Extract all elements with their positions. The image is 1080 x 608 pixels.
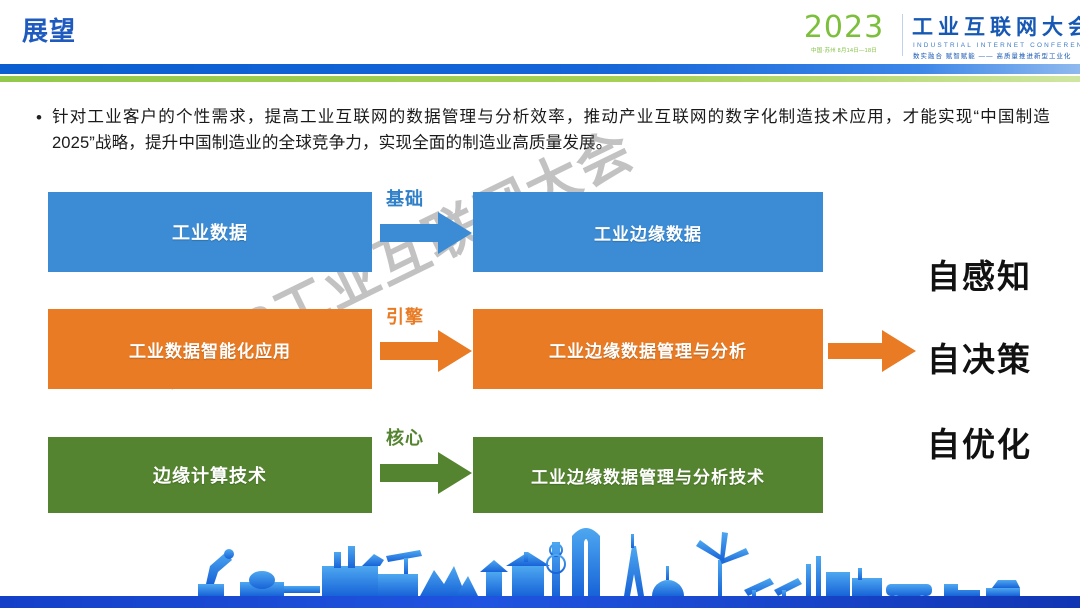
box-row1-left-label: 工业数据 xyxy=(172,219,248,245)
arrow-row1 xyxy=(380,212,472,254)
box-row3-right-label: 工业边缘数据管理与分析技术 xyxy=(531,463,765,488)
footer-skyline xyxy=(0,508,1080,608)
box-row2-right: 工业边缘数据管理与分析 xyxy=(473,309,823,389)
box-row1-right-label: 工业边缘数据 xyxy=(594,220,702,245)
arrow-label-row3: 核心 xyxy=(386,424,424,450)
box-row3-left: 边缘计算技术 xyxy=(48,437,372,513)
box-row2-left: 工业数据智能化应用 xyxy=(48,309,372,389)
arrow-row2 xyxy=(380,330,472,372)
box-row2-right-label: 工业边缘数据管理与分析 xyxy=(549,337,747,362)
box-row1-left: 工业数据 xyxy=(48,192,372,272)
arrow-label-row1: 基础 xyxy=(386,185,424,211)
arrow-row3 xyxy=(380,452,472,494)
skyline-silhouette xyxy=(198,528,1020,601)
arrow-row2-outcome xyxy=(828,330,916,372)
box-row2-left-label: 工业数据智能化应用 xyxy=(129,337,291,362)
box-row3-left-label: 边缘计算技术 xyxy=(153,462,267,488)
slide-root: 展望 2023 中国·苏州 8月14日—18日 工业互联网大会 INDUSTRI… xyxy=(0,0,1080,608)
arrow-label-row2: 引擎 xyxy=(386,303,424,329)
outcome-row3: 自优化 xyxy=(927,418,1032,466)
box-row3-right: 工业边缘数据管理与分析技术 xyxy=(473,437,823,513)
footer-band xyxy=(0,596,1080,608)
outcome-row2: 自决策 xyxy=(927,333,1032,381)
outcome-row1: 自感知 xyxy=(927,250,1032,298)
box-row1-right: 工业边缘数据 xyxy=(473,192,823,272)
